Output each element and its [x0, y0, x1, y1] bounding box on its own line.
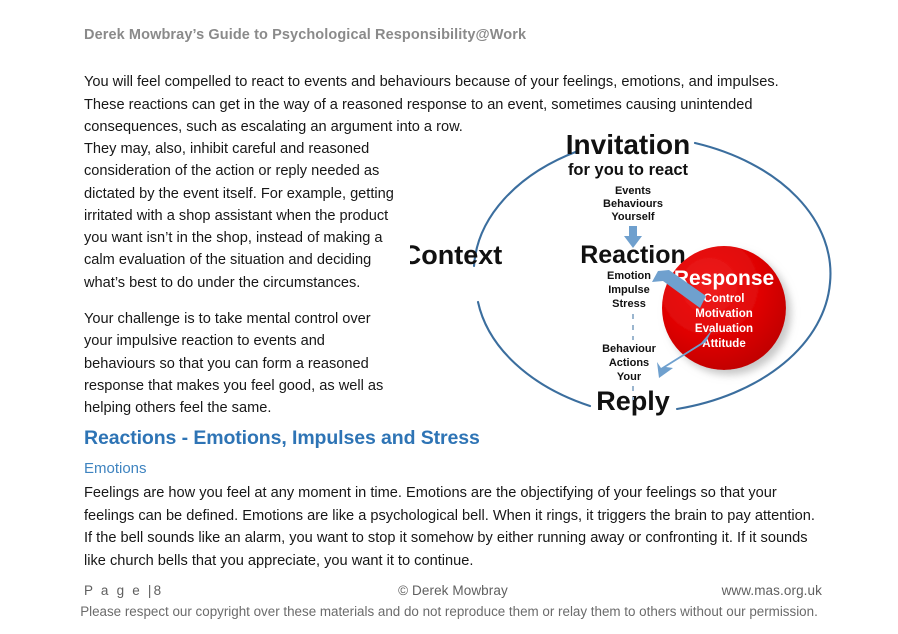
svg-text:Actions: Actions [609, 357, 649, 369]
paragraph-inhibit: They may, also, inhibit careful and reas… [84, 138, 396, 294]
svg-text:Behaviours: Behaviours [603, 198, 663, 210]
document-header-title: Derek Mowbray’s Guide to Psychological R… [84, 27, 526, 43]
diagram-label-invitation: Invitation [566, 129, 690, 160]
svg-text:Control: Control [704, 293, 745, 305]
reaction-response-diagram: Invitation for you to react Context Repl… [410, 118, 850, 418]
footer-copyright-notice: Please respect our copyright over these … [0, 604, 898, 619]
diagram-behaviour-items: Behaviour Actions Your [602, 343, 657, 383]
document-page: Derek Mowbray’s Guide to Psychological R… [0, 0, 898, 634]
paragraph-emotions: Feelings are how you feel at any moment … [84, 482, 824, 572]
svg-text:Yourself: Yourself [611, 211, 655, 223]
svg-text:Evaluation: Evaluation [695, 323, 753, 335]
svg-text:Stress: Stress [612, 298, 646, 310]
diagram-label-context: Context [410, 240, 502, 270]
svg-text:Your: Your [617, 371, 642, 383]
svg-text:Emotion: Emotion [607, 270, 651, 282]
svg-text:Impulse: Impulse [608, 284, 650, 296]
footer-notice-wrapper: Please respect our copyright over these … [0, 604, 898, 624]
svg-text:Motivation: Motivation [695, 308, 753, 320]
svg-text:Behaviour: Behaviour [602, 343, 657, 355]
paragraph-challenge: Your challenge is to take mental control… [84, 308, 396, 419]
svg-text:Attitude: Attitude [702, 338, 745, 350]
footer-website: www.mas.org.uk [722, 583, 822, 598]
diagram-label-invitation-sub: for you to react [568, 161, 689, 179]
section-heading-reactions: Reactions - Emotions, Impulses and Stres… [84, 427, 480, 450]
footer-copyright: © Derek Mowbray [84, 583, 822, 598]
diagram-reaction-items: Emotion Impulse Stress [607, 270, 651, 310]
diagram-label-reaction: Reaction [580, 241, 686, 269]
subsection-heading-emotions: Emotions [84, 460, 147, 477]
svg-text:Events: Events [615, 185, 651, 197]
page-footer: P a g e |8 © Derek Mowbray www.mas.org.u… [84, 583, 822, 601]
diagram-inputs: Events Behaviours Yourself [603, 185, 663, 223]
